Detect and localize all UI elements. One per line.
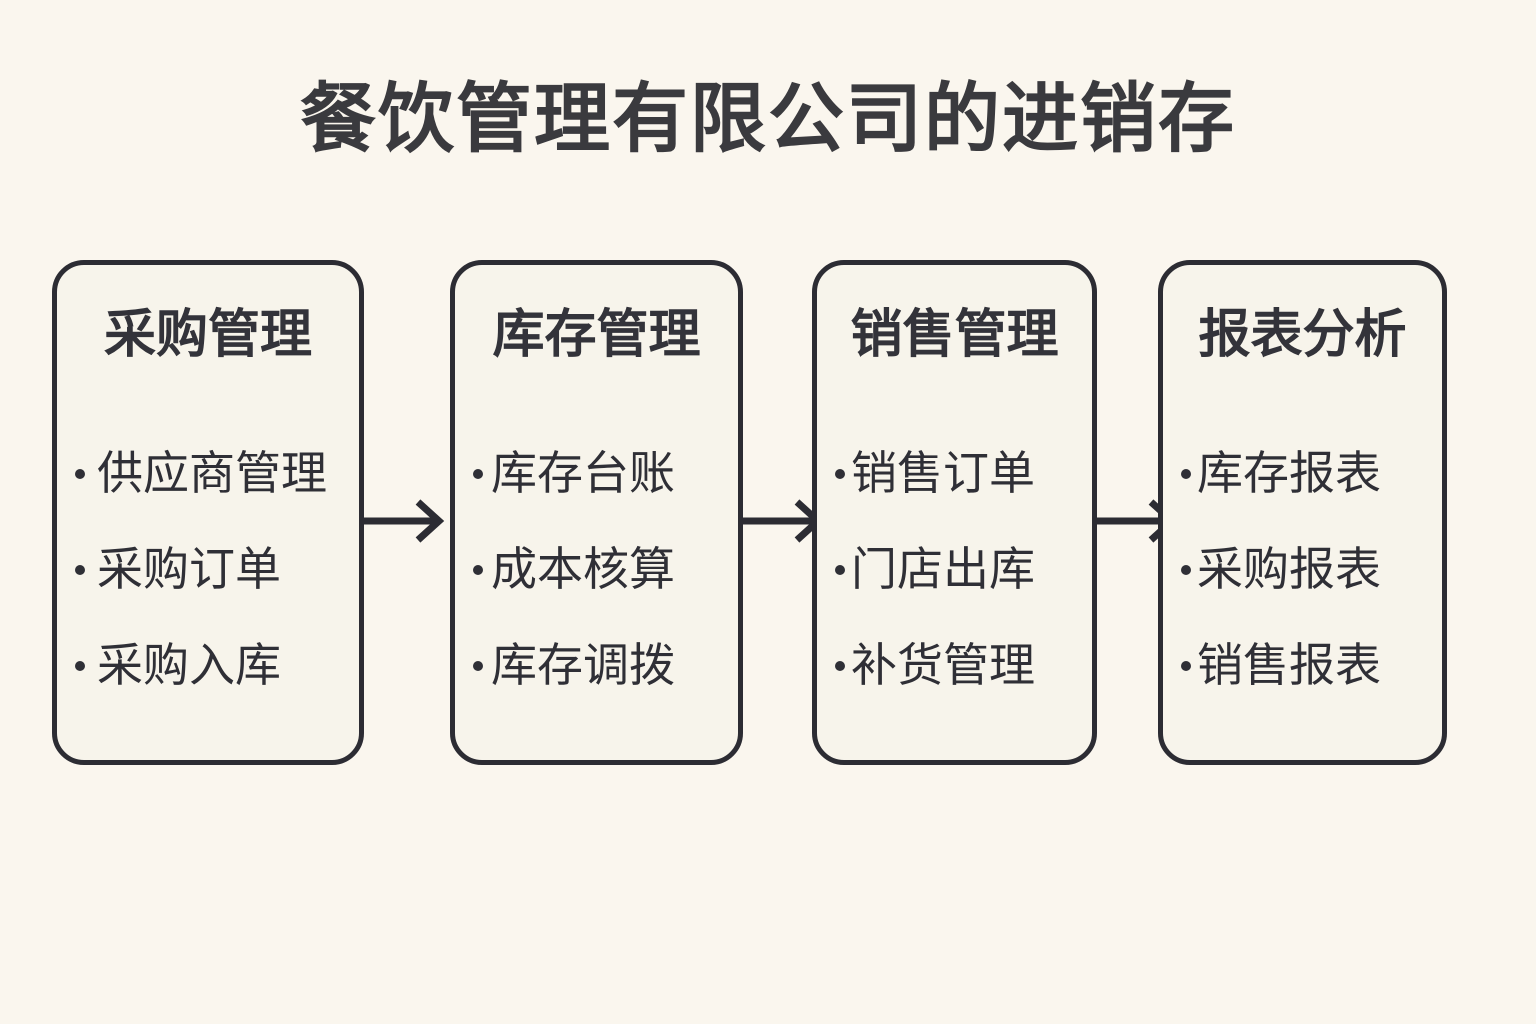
list-item-label: 采购入库	[97, 617, 281, 713]
flow-node-item-list: 库存报表 采购报表 销售报表	[1163, 425, 1442, 713]
list-item[interactable]: 供应商管理	[57, 425, 359, 521]
list-item-label: 库存台账	[491, 425, 675, 521]
list-item-label: 成本核算	[491, 521, 675, 617]
bullet-dot-icon	[835, 565, 845, 575]
list-item[interactable]: 采购报表	[1163, 521, 1442, 617]
list-item[interactable]: 销售报表	[1163, 617, 1442, 713]
list-item-label: 库存报表	[1197, 425, 1381, 521]
flow-node-purchasing[interactable]: 采购管理 供应商管理 采购订单 采购入库	[52, 260, 364, 765]
flow-node-header: 库存管理	[455, 303, 738, 367]
bullet-dot-icon	[1181, 565, 1191, 575]
list-item[interactable]: 库存调拨	[455, 617, 738, 713]
flow-node-inventory[interactable]: 库存管理 库存台账 成本核算 库存调拨	[450, 260, 743, 765]
list-item-label: 供应商管理	[97, 425, 327, 521]
bullet-dot-icon	[835, 661, 845, 671]
flow-node-header: 采购管理	[57, 303, 359, 367]
list-item-label: 销售报表	[1197, 617, 1381, 713]
flow-node-item-list: 库存台账 成本核算 库存调拨	[455, 425, 738, 713]
page-title: 餐饮管理有限公司的进销存	[0, 72, 1536, 168]
list-item-label: 销售订单	[851, 425, 1035, 521]
list-item[interactable]: 成本核算	[455, 521, 738, 617]
list-item[interactable]: 门店出库	[817, 521, 1092, 617]
flow-node-sales[interactable]: 销售管理 销售订单 门店出库 补货管理	[812, 260, 1097, 765]
list-item[interactable]: 采购入库	[57, 617, 359, 713]
bullet-dot-icon	[75, 565, 85, 575]
bullet-dot-icon	[473, 469, 483, 479]
flow-node-header: 销售管理	[817, 303, 1092, 367]
diagram-canvas: 餐饮管理有限公司的进销存 采购管理 供应商管理 采购订单 采购入库	[0, 0, 1536, 1024]
list-item[interactable]: 补货管理	[817, 617, 1092, 713]
bullet-dot-icon	[473, 661, 483, 671]
bullet-dot-icon	[75, 661, 85, 671]
flow-node-header: 报表分析	[1163, 303, 1442, 367]
flow-diagram: 采购管理 供应商管理 采购订单 采购入库	[0, 260, 1536, 765]
list-item[interactable]: 库存报表	[1163, 425, 1442, 521]
bullet-dot-icon	[835, 469, 845, 479]
list-item-label: 门店出库	[851, 521, 1035, 617]
bullet-dot-icon	[1181, 661, 1191, 671]
bullet-dot-icon	[1181, 469, 1191, 479]
list-item-label: 采购订单	[97, 521, 281, 617]
list-item[interactable]: 库存台账	[455, 425, 738, 521]
bullet-dot-icon	[75, 469, 85, 479]
list-item[interactable]: 采购订单	[57, 521, 359, 617]
list-item-label: 采购报表	[1197, 521, 1381, 617]
arrow-right-icon	[363, 498, 453, 544]
list-item-label: 补货管理	[851, 617, 1035, 713]
bullet-dot-icon	[473, 565, 483, 575]
list-item-label: 库存调拨	[491, 617, 675, 713]
flow-node-item-list: 供应商管理 采购订单 采购入库	[57, 425, 359, 713]
list-item[interactable]: 销售订单	[817, 425, 1092, 521]
flow-node-reporting[interactable]: 报表分析 库存报表 采购报表 销售报表	[1158, 260, 1447, 765]
flow-node-item-list: 销售订单 门店出库 补货管理	[817, 425, 1092, 713]
